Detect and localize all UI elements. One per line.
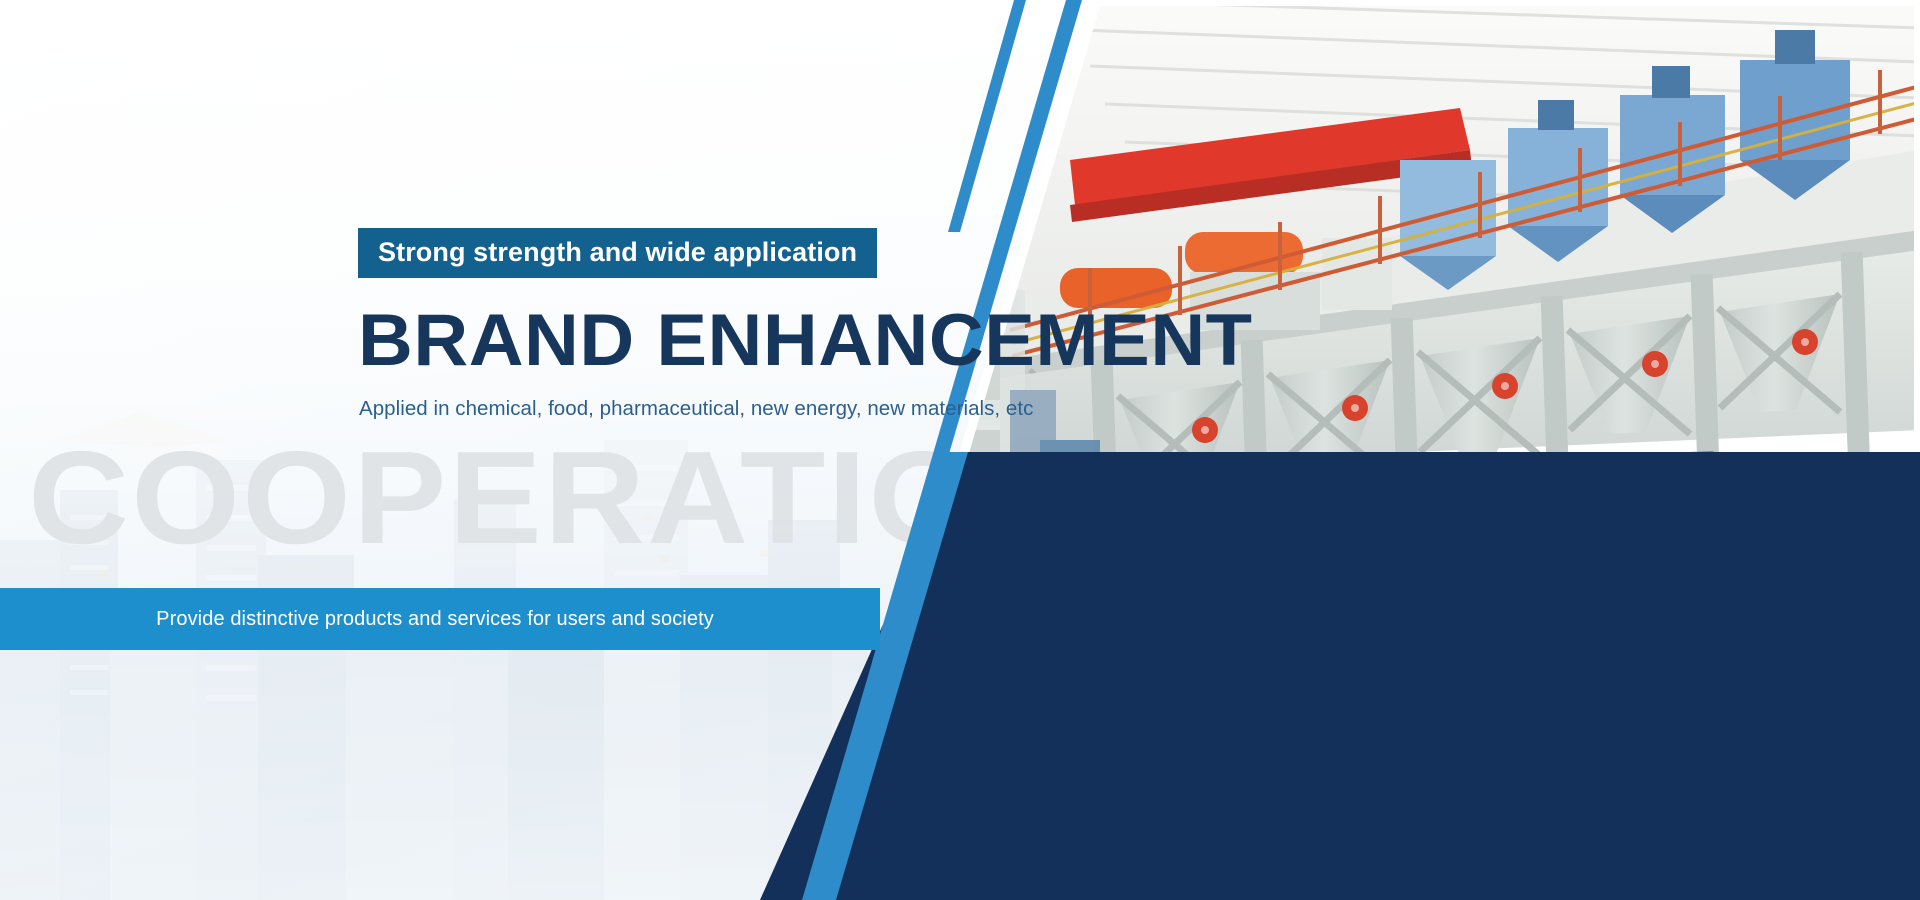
badge-strong-strength: Strong strength and wide application: [358, 228, 877, 278]
cooperation-watermark: COOPERATION: [28, 432, 1083, 564]
hero-banner: COOPERATION: [0, 0, 1920, 900]
ribbon-text: Provide distinctive products and service…: [0, 588, 880, 650]
hero-text-block: Strong strength and wide application BRA…: [358, 228, 998, 423]
ribbon-bar: Provide distinctive products and service…: [0, 588, 880, 650]
hero-subtitle: Applied in chemical, food, pharmaceutica…: [359, 396, 998, 423]
page-title: BRAND ENHANCEMENT: [358, 306, 1024, 376]
